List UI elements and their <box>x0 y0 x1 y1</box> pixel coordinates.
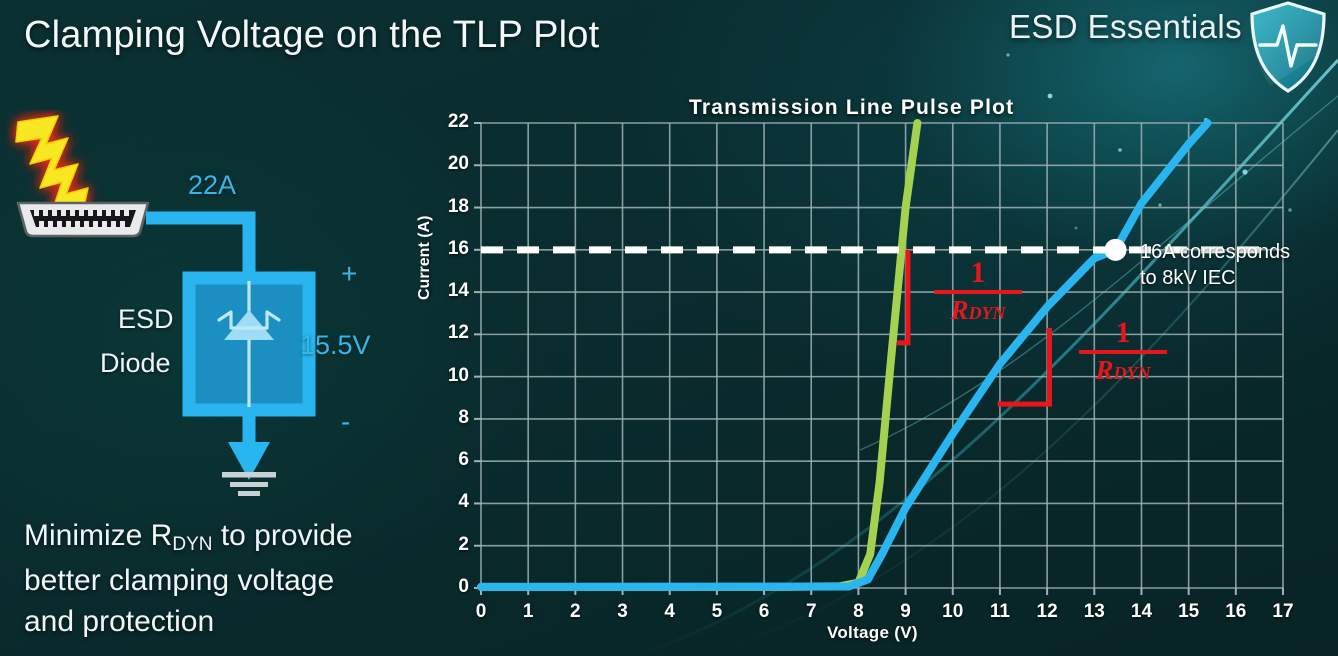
series-line-low-rdyn-device <box>481 123 917 587</box>
slope-blue-numerator: 1 <box>1075 318 1171 348</box>
operating-point-marker <box>1105 239 1127 261</box>
slope-annotation-blue: 1 RDYN <box>1075 318 1171 389</box>
iec-annotation-line1: 16A corresponds <box>1140 239 1338 265</box>
slide-canvas: Clamping Voltage on the TLP Plot ESD Ess… <box>0 0 1338 656</box>
iec-annotation-line2: to 8kV IEC <box>1140 265 1338 291</box>
slope-green-den-sub: DYN <box>969 303 1006 323</box>
slope-annotation-green: 1 RDYN <box>930 258 1026 329</box>
slope-green-den-main: R <box>950 295 968 325</box>
tlp-chart: Transmission Line Pulse Plot Current (A)… <box>0 0 1338 656</box>
slope-blue-den-sub: DYN <box>1114 363 1151 383</box>
slope-green-fraction-bar <box>934 290 1022 294</box>
slope-blue-denominator: RDYN <box>1075 355 1171 389</box>
slope-green-denominator: RDYN <box>930 295 1026 329</box>
slope-blue-fraction-bar <box>1079 350 1167 354</box>
slope-green-numerator: 1 <box>930 258 1026 288</box>
iec-annotation: 16A corresponds to 8kV IEC <box>1140 239 1338 291</box>
slope-blue-den-main: R <box>1095 355 1113 385</box>
